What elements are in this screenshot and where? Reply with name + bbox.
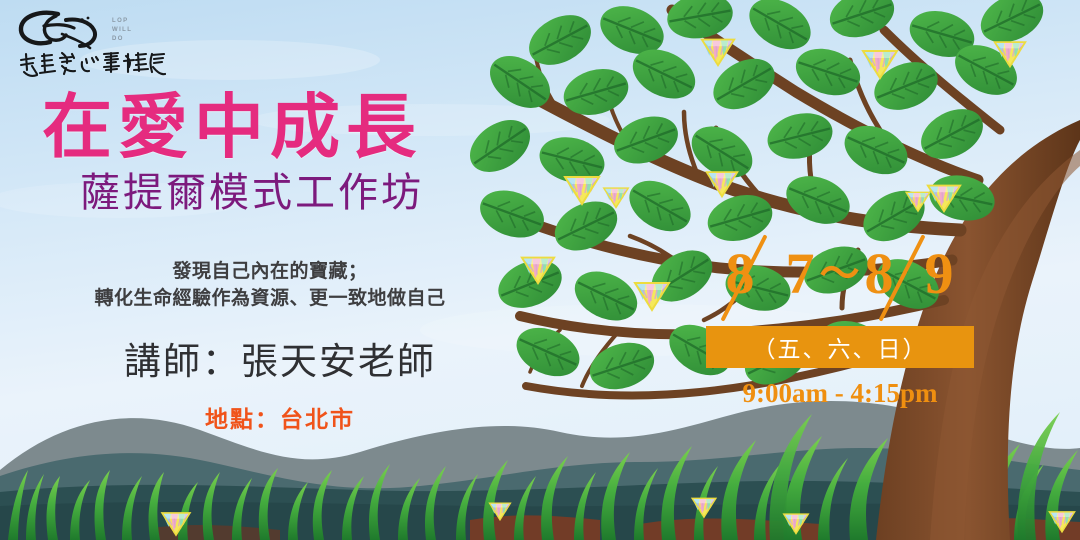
tagline-line-2: 轉化生命經驗作為資源、更一致地做自己 (0, 285, 540, 312)
headline-block: 在愛中成長 薩提爾模式工作坊 (0, 92, 520, 216)
weekday-bar: （五、六、日） (706, 326, 974, 368)
start-month: 8 (726, 243, 756, 305)
speaker-line: 講師：張天安老師 (0, 338, 560, 386)
date-range: 87～89 (706, 243, 974, 305)
date-block: 87～89 （五、六、日） 9:00am - 4:15pm (706, 243, 974, 409)
logo-en-line2: WILL (112, 26, 132, 35)
venue-line: 地點：台北市 (0, 404, 560, 434)
page-title: 在愛中成長 (0, 92, 520, 166)
logo-brand-name-calligraphy (18, 50, 166, 80)
start-day: 7 (756, 243, 816, 305)
tagline-line-1: 發現自己內在的寶藏； (0, 258, 540, 285)
date-range-symbol: ～ (816, 251, 865, 296)
logo-en-tagline: LOP WILL DO (112, 17, 132, 44)
brand-logo[interactable]: LOP WILL DO (16, 8, 166, 82)
tagline-block: 發現自己內在的寶藏； 轉化生命經驗作為資源、更一致地做自己 (0, 258, 540, 312)
poster-canvas: LOP WILL DO 在愛中成長 (0, 0, 1080, 540)
session-times: 9:00am - 4:15pm (706, 378, 974, 409)
page-subtitle: 薩提爾模式工作坊 (0, 170, 520, 216)
logo-en-line1: LOP (112, 17, 132, 26)
logo-en-line3: DO (112, 35, 132, 44)
lop-rabbit-brush-icon (16, 8, 108, 52)
